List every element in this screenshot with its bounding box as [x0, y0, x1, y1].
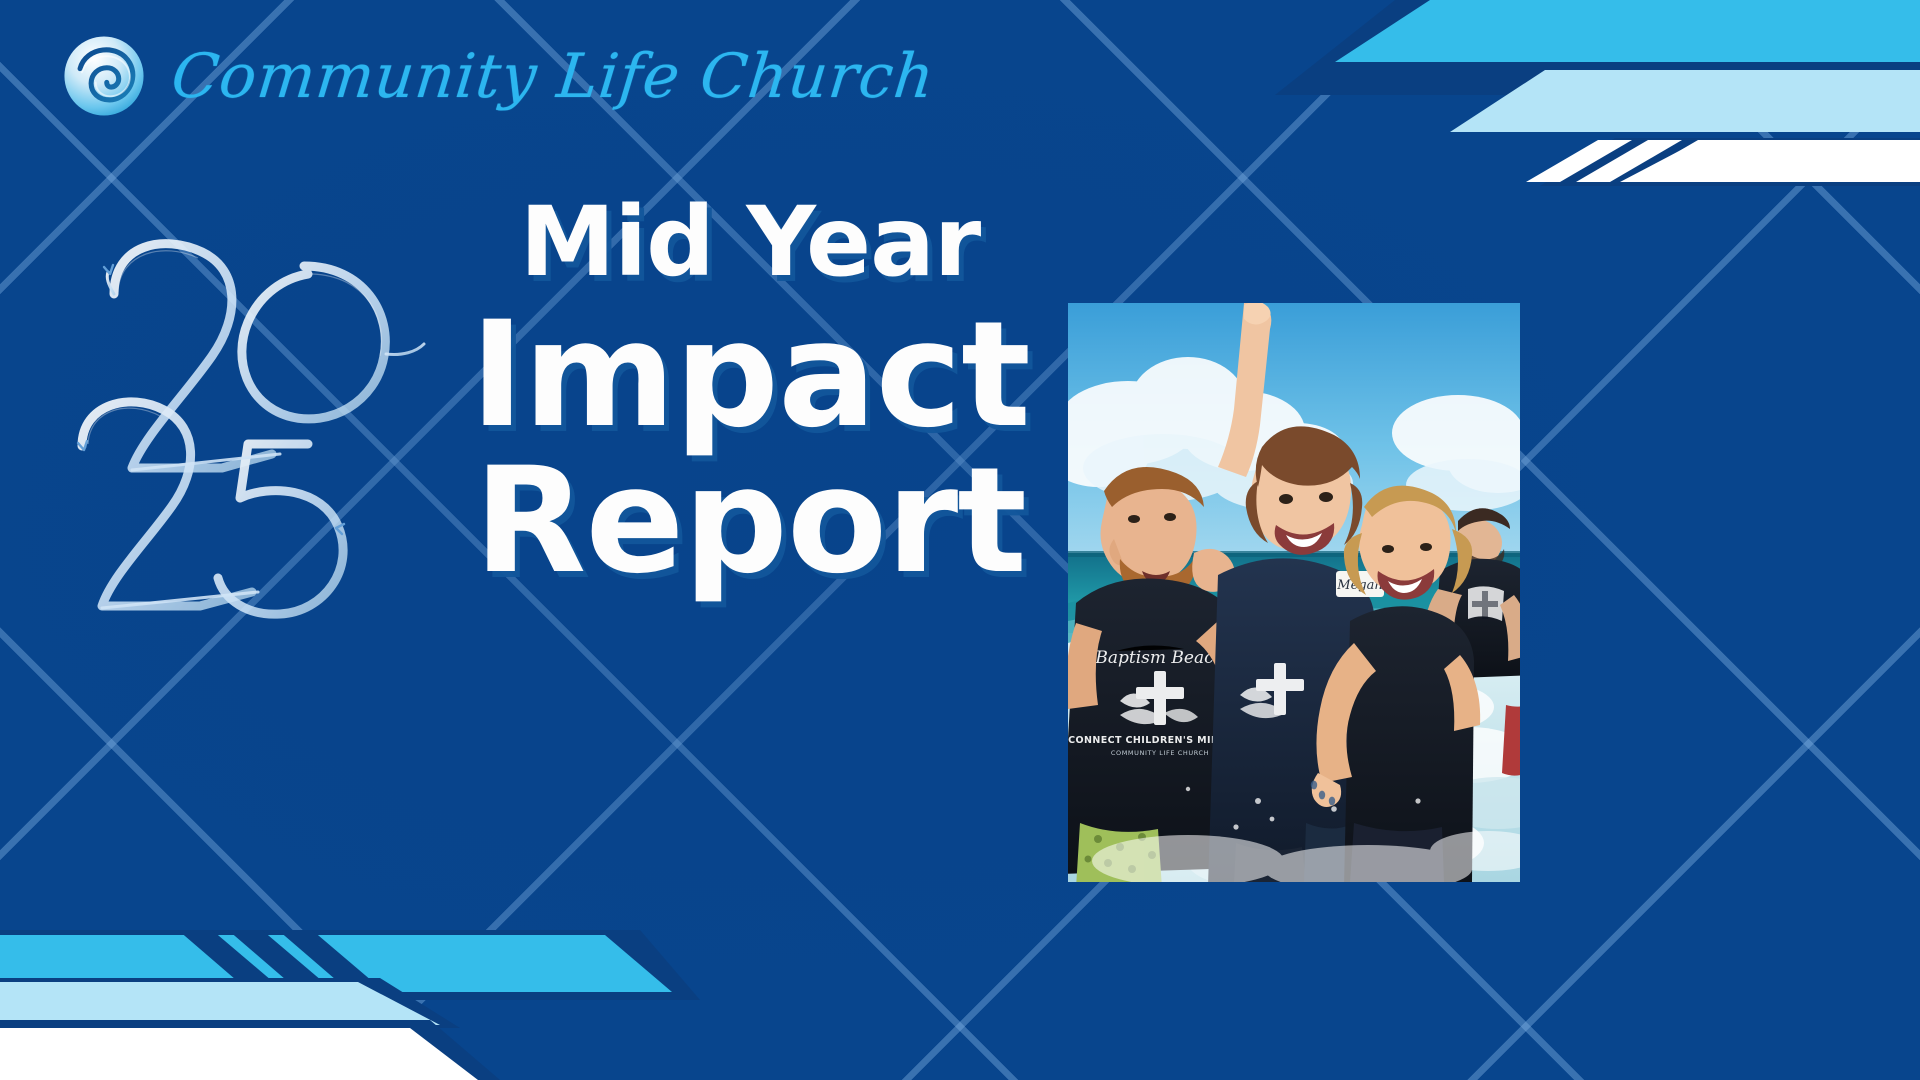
- headline-line-1: Mid Year: [470, 196, 1030, 289]
- wave-circle-logo-icon: [58, 30, 150, 122]
- shirt-text-bottom: COMMUNITY LIFE CHURCH: [1111, 749, 1209, 757]
- headline-line-2: Impact: [470, 305, 1030, 447]
- shirt-text-top: Baptism Beach: [1094, 648, 1224, 668]
- slide-canvas: Community Life Church: [0, 0, 1920, 1080]
- brand-logo[interactable]: Community Life Church: [58, 30, 934, 122]
- year-2025-calligraphy: [72, 196, 442, 656]
- headline-block: Mid Year Impact Report: [470, 196, 1030, 592]
- baptism-photo: Baptism Beach CONNECT CHILDREN'S MINISTR…: [1068, 303, 1520, 882]
- brand-name-text: Community Life Church: [168, 41, 938, 112]
- headline-line-3: Report: [470, 451, 1030, 593]
- baptism-photo-illustration: Baptism Beach CONNECT CHILDREN'S MINISTR…: [1068, 303, 1520, 882]
